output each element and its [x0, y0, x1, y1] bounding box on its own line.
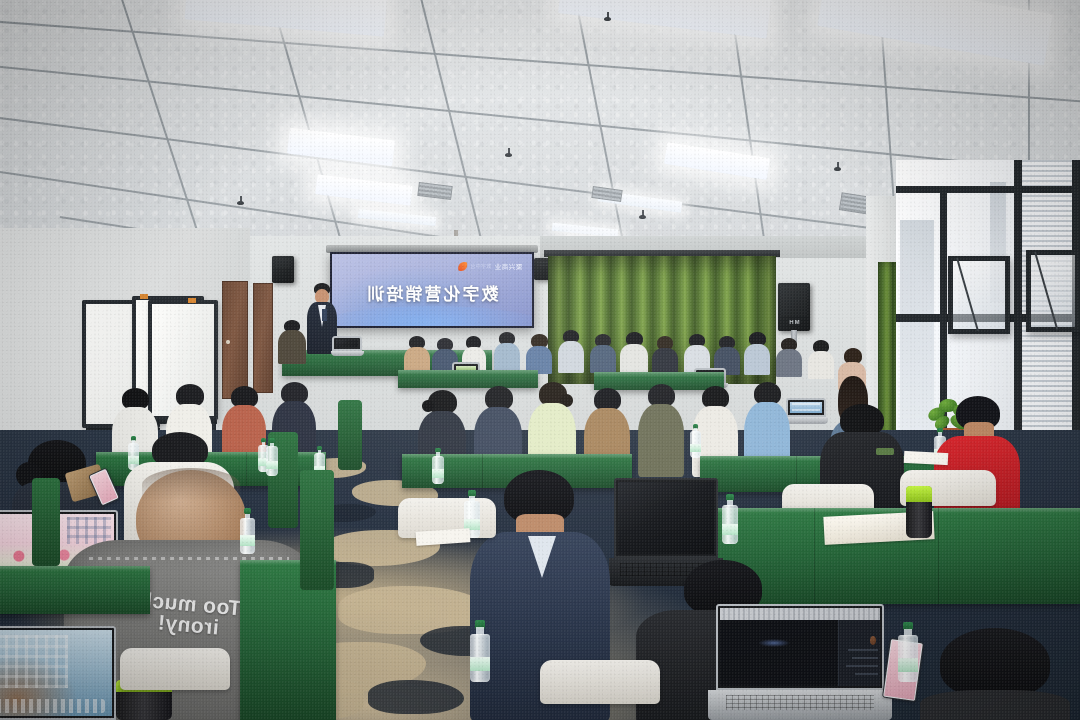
sprinkler-head	[237, 196, 244, 206]
app-toolbar[interactable]	[720, 608, 880, 620]
sprinkler-head	[639, 210, 646, 220]
whiteboard-clip[interactable]	[188, 298, 196, 303]
sprinkler-head	[834, 162, 841, 172]
laptop-lid	[0, 626, 116, 720]
taskbar[interactable]	[0, 699, 105, 713]
handout-paper[interactable]	[904, 451, 949, 465]
laptop-wallpaper	[336, 340, 358, 347]
attendee	[558, 330, 584, 372]
laptop-keyboard[interactable]	[331, 351, 364, 356]
chair-back	[540, 660, 660, 704]
bottle-label	[898, 658, 918, 672]
chair-back	[120, 648, 230, 690]
water-bottle[interactable]	[690, 424, 701, 458]
attendee-torso	[808, 351, 834, 379]
chair-post	[338, 400, 362, 470]
presentation-slide: 聚兴商业 数字中台 数字化营销培训	[332, 254, 532, 326]
water-bottle[interactable]	[722, 494, 738, 544]
conference-room-photo: MH 聚兴商业 数字中台	[0, 0, 1080, 720]
laptop-application-window	[720, 608, 880, 686]
bottle-body	[432, 456, 444, 484]
attendee-hair	[142, 468, 240, 502]
carpet-pattern-shape	[368, 680, 464, 714]
app-sidebar-row	[846, 665, 878, 667]
attendee-torso	[590, 345, 616, 373]
bottle-label	[722, 524, 738, 536]
water-bottle[interactable]	[432, 448, 444, 484]
chair-post	[300, 470, 334, 590]
laptop-keys[interactable]	[726, 695, 874, 709]
window-mullion	[896, 186, 1080, 193]
bottle-body	[898, 635, 918, 682]
table-skirt-fold	[938, 508, 939, 604]
speaker-grille	[537, 262, 548, 266]
laptop-screen	[618, 482, 714, 554]
laptop-keyboard[interactable]	[708, 690, 893, 720]
bottle-label	[470, 657, 490, 672]
tumbler-cup[interactable]	[906, 486, 932, 538]
bottle-body	[470, 634, 490, 682]
attendee-badge	[876, 448, 894, 455]
attendee-torso	[494, 343, 520, 373]
slide-title: 数字化营销培训	[332, 280, 532, 305]
presenter-microphone	[322, 309, 327, 321]
attendee	[638, 384, 684, 476]
app-sidebar-row	[855, 673, 879, 675]
attendee	[590, 334, 616, 372]
conference-table	[0, 566, 150, 614]
app-sidebar[interactable]	[838, 620, 880, 686]
laptop-screen	[336, 340, 358, 347]
app-canvas-glow	[758, 639, 790, 647]
attendee-torso	[558, 341, 584, 373]
bottle-label	[690, 444, 701, 452]
bottle-label	[432, 469, 444, 477]
app-sidebar-row	[852, 657, 878, 659]
app-sidebar-row	[848, 649, 879, 651]
desktop-icons[interactable]	[0, 635, 68, 688]
wall-speaker	[272, 256, 294, 283]
bottle-label	[266, 461, 278, 470]
laptop-lid	[332, 336, 362, 351]
laptop-wallpaper	[790, 402, 822, 413]
water-bottle[interactable]	[266, 438, 278, 476]
table-skirt-fold	[814, 508, 815, 604]
laptop[interactable]	[0, 626, 116, 720]
bottle-body	[266, 446, 278, 476]
attendee-hair	[940, 628, 1050, 698]
slide-logo-mark-icon	[458, 262, 467, 271]
laptop-screen	[790, 402, 822, 413]
attendee-hair-bun	[422, 400, 434, 412]
projector-screen: 聚兴商业 数字中台 数字化营销培训	[330, 252, 534, 328]
laptop[interactable]	[332, 336, 362, 356]
bottle-body	[240, 518, 255, 554]
laptop-wallpaper	[618, 482, 714, 554]
laptop-screen	[0, 630, 112, 716]
user-avatar	[870, 636, 876, 645]
wall-speaker: MH	[778, 283, 810, 331]
window-stay-arm	[956, 258, 979, 332]
slide-logo: 聚兴商业 数字中台	[458, 261, 522, 271]
laptop-screen	[720, 608, 880, 686]
attendee	[652, 336, 678, 374]
attendee-torso	[620, 344, 648, 374]
laptop-screen-content	[792, 403, 820, 412]
attendee-torso	[920, 690, 1070, 720]
bottle-label	[240, 535, 255, 546]
whiteboard-clip[interactable]	[140, 294, 148, 299]
chair-post	[32, 478, 60, 566]
attendee-torso	[744, 344, 770, 375]
table-edge	[594, 372, 724, 377]
laptop-lid	[716, 604, 884, 690]
water-bottle[interactable]	[470, 620, 490, 682]
attendee	[404, 336, 430, 372]
awning-window-open[interactable]	[1026, 250, 1080, 332]
slide-graphic-swoosh	[330, 306, 534, 328]
laptop-wallpaper	[0, 630, 112, 716]
attendee-torso	[278, 330, 306, 364]
attendee	[920, 628, 1070, 720]
bottle-body	[690, 431, 701, 458]
table-edge	[0, 566, 150, 571]
sprinkler-head	[604, 12, 611, 22]
attendee-torso	[776, 349, 802, 377]
tumbler-lid	[906, 486, 932, 502]
water-bottle[interactable]	[240, 508, 255, 554]
sprinkler-head	[505, 148, 512, 158]
attendee	[526, 334, 552, 372]
attendee	[808, 340, 834, 378]
speaker-brand-label: MH	[778, 320, 810, 326]
attendee-torso	[638, 404, 684, 477]
laptop-lid	[614, 478, 718, 558]
slide-logo-main: 聚兴商业	[494, 261, 522, 271]
attendee	[278, 320, 306, 362]
attendee	[620, 332, 648, 372]
laptop[interactable]	[716, 604, 884, 720]
attendee	[744, 332, 770, 374]
speaker-grille	[781, 287, 807, 317]
window-stay-arm	[1034, 252, 1058, 330]
awning-window-open[interactable]	[948, 256, 1010, 334]
attendee	[776, 338, 802, 376]
water-bottle[interactable]	[898, 622, 918, 682]
bottle-body	[722, 505, 738, 544]
slide-logo-sub: 数字中台	[470, 263, 491, 270]
table-edge	[398, 370, 538, 375]
attendee	[494, 332, 520, 372]
speaker-grille	[275, 260, 291, 269]
